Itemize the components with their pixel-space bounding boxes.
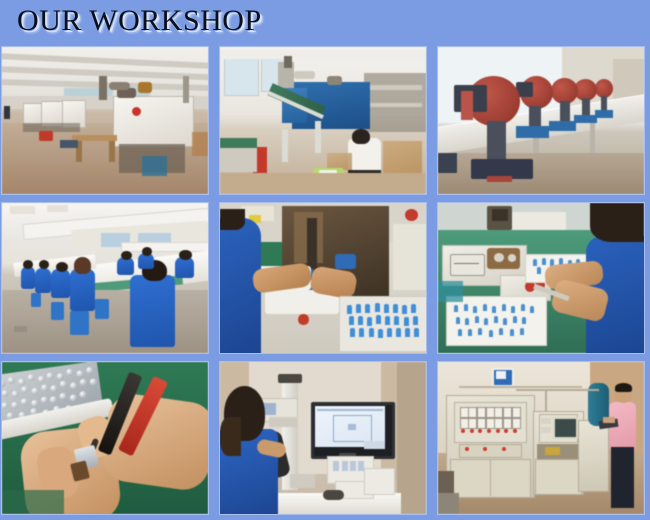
photo-tile-6[interactable] — [438, 203, 644, 353]
photo-3-image — [438, 47, 644, 194]
photo-9-image — [438, 362, 644, 514]
photo-tile-7[interactable] — [2, 362, 208, 514]
photo-tile-4[interactable] — [2, 203, 208, 353]
photo-tile-3[interactable] — [438, 47, 644, 194]
photo-tile-1[interactable] — [2, 47, 208, 194]
photo-tile-9[interactable] — [438, 362, 644, 514]
photo-7-image — [2, 362, 208, 514]
photo-2-image — [220, 47, 426, 194]
workshop-gallery-page: OUR WORKSHOP — [0, 0, 650, 520]
page-header: OUR WORKSHOP — [0, 0, 650, 45]
photo-tile-2[interactable] — [220, 47, 426, 194]
page-title: OUR WORKSHOP — [17, 4, 262, 38]
photo-6-image — [438, 203, 644, 353]
photo-tile-8[interactable] — [220, 362, 426, 514]
photo-4-image — [2, 203, 208, 353]
photo-8-image — [220, 362, 426, 514]
photo-5-image — [220, 203, 426, 353]
photo-tile-5[interactable] — [220, 203, 426, 353]
photo-1-image — [2, 47, 208, 194]
photo-grid — [2, 47, 647, 513]
